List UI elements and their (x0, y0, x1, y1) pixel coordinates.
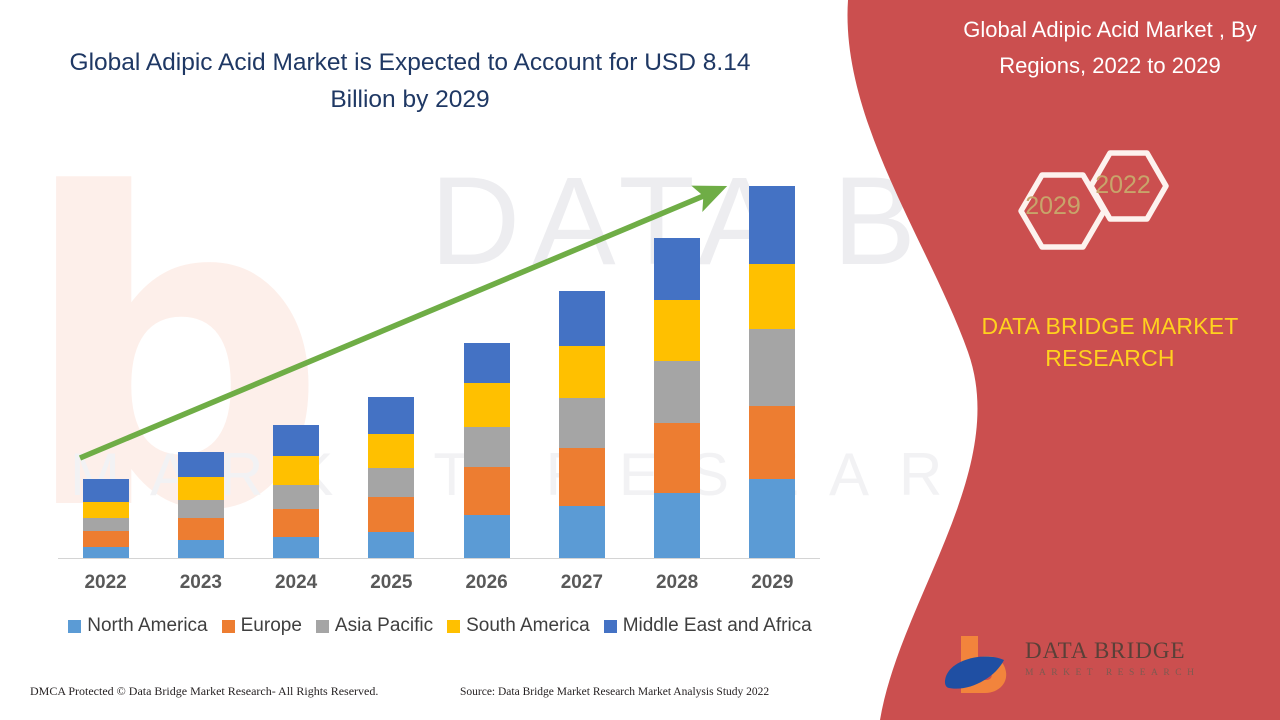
x-axis-label-2023: 2023 (166, 572, 236, 594)
x-axis-label-2027: 2027 (547, 572, 617, 594)
right-panel-content: Global Adipic Acid Market , By Regions, … (940, 0, 1280, 720)
chart-legend: North AmericaEuropeAsia PacificSouth Ame… (60, 615, 820, 637)
bar-segment (178, 540, 224, 559)
x-axis-label-2024: 2024 (261, 572, 331, 594)
bar-segment (83, 479, 129, 502)
footer-source: Source: Data Bridge Market Research Mark… (460, 686, 769, 698)
legend-label: North America (87, 615, 207, 637)
bar-segment (273, 485, 319, 509)
chart-baseline (58, 558, 820, 559)
page-title: Global Adipic Acid Market is Expected to… (60, 44, 760, 118)
bar-segment (464, 515, 510, 559)
logo-wordmark-main: DATA BRIDGE (1025, 638, 1199, 664)
bar-segment (749, 479, 795, 559)
logo-wordmark-sub: MARKET RESEARCH (1025, 668, 1199, 678)
legend-item-south-america[interactable]: South America (447, 615, 590, 637)
bar-segment (83, 518, 129, 531)
bar-segment (368, 497, 414, 532)
legend-swatch-icon (604, 620, 617, 633)
legend-item-europe[interactable]: Europe (222, 615, 302, 637)
hexagon-label-2022: 2022 (1082, 164, 1164, 206)
legend-swatch-icon (447, 620, 460, 633)
growth-arrow-icon (58, 170, 758, 480)
bar-column-2022 (83, 479, 129, 559)
bar-segment (178, 500, 224, 518)
x-axis-label-2026: 2026 (452, 572, 522, 594)
bar-segment (178, 477, 224, 500)
legend-label: Middle East and Africa (623, 615, 812, 637)
infographic-canvas: b DATA BRI MARKET RESEARCH Global Adipic… (0, 0, 1280, 720)
brand-name: DATA BRIDGE MARKET RESEARCH (940, 310, 1280, 374)
legend-item-asia-pacific[interactable]: Asia Pacific (316, 615, 433, 637)
x-axis-labels: 20222023202420252026202720282029 (58, 572, 820, 600)
legend-item-middle-east-and-africa[interactable]: Middle East and Africa (604, 615, 812, 637)
logo-wordmark: DATA BRIDGE MARKET RESEARCH (1025, 638, 1199, 678)
bar-segment (273, 537, 319, 559)
legend-swatch-icon (316, 620, 329, 633)
x-axis-label-2028: 2028 (642, 572, 712, 594)
bar-segment (368, 532, 414, 559)
legend-swatch-icon (222, 620, 235, 633)
bar-segment (559, 506, 605, 559)
legend-item-north-america[interactable]: North America (68, 615, 207, 637)
x-axis-label-2025: 2025 (356, 572, 426, 594)
bar-segment (273, 509, 319, 537)
x-axis-label-2022: 2022 (71, 572, 141, 594)
legend-swatch-icon (68, 620, 81, 633)
bar-segment (178, 518, 224, 540)
footer-copyright: DMCA Protected © Data Bridge Market Rese… (30, 684, 378, 699)
legend-label: South America (466, 615, 590, 637)
x-axis-label-2029: 2029 (737, 572, 807, 594)
bar-segment (654, 493, 700, 559)
right-panel-title: Global Adipic Acid Market , By Regions, … (940, 12, 1280, 84)
bar-segment (83, 531, 129, 547)
legend-label: Europe (241, 615, 302, 637)
legend-label: Asia Pacific (335, 615, 433, 637)
bar-segment (83, 502, 129, 518)
